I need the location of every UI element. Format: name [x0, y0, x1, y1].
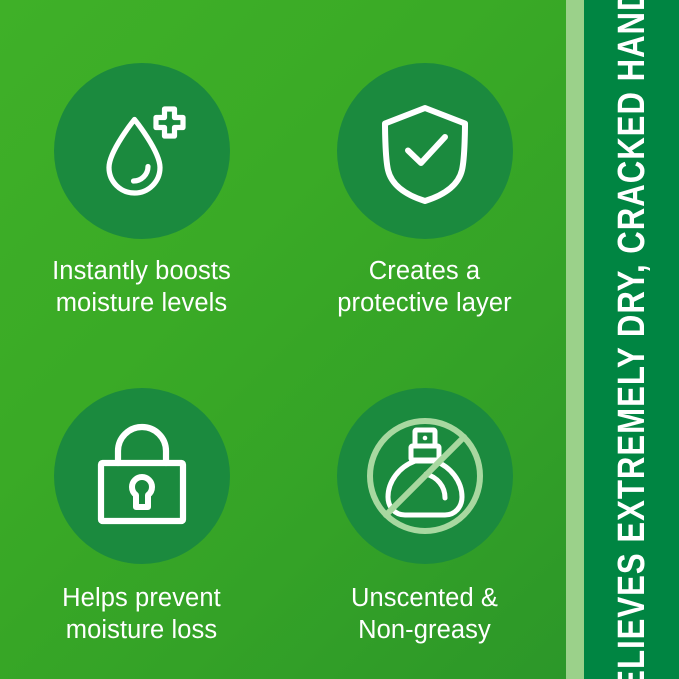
icon-circle — [54, 63, 230, 239]
feature-label: Creates a protective layer — [337, 255, 512, 319]
icon-circle — [337, 388, 513, 564]
padlock-icon — [89, 423, 195, 529]
feature-item-moisture-boost: Instantly boosts moisture levels — [0, 0, 283, 340]
shield-check-icon — [371, 97, 479, 205]
icon-circle — [54, 388, 230, 564]
side-banner: RELIEVES EXTREMELY DRY, CRACKED HANDS — [584, 0, 679, 679]
feature-item-protective-layer: Creates a protective layer — [283, 0, 566, 340]
banner-headline: RELIEVES EXTREMELY DRY, CRACKED HANDS — [613, 0, 651, 679]
icon-circle — [337, 63, 513, 239]
feature-label: Unscented & Non-greasy — [351, 582, 498, 646]
infographic-root: Instantly boosts moisture levels Creates… — [0, 0, 679, 679]
feature-item-moisture-lock: Helps prevent moisture loss — [0, 340, 283, 679]
accent-strip — [566, 0, 584, 679]
water-droplet-plus-icon — [86, 95, 198, 207]
feature-item-unscented: Unscented & Non-greasy — [283, 340, 566, 679]
feature-label: Instantly boosts moisture levels — [52, 255, 231, 319]
no-perfume-icon — [363, 414, 487, 538]
feature-grid: Instantly boosts moisture levels Creates… — [0, 0, 566, 679]
feature-label: Helps prevent moisture loss — [62, 582, 221, 646]
